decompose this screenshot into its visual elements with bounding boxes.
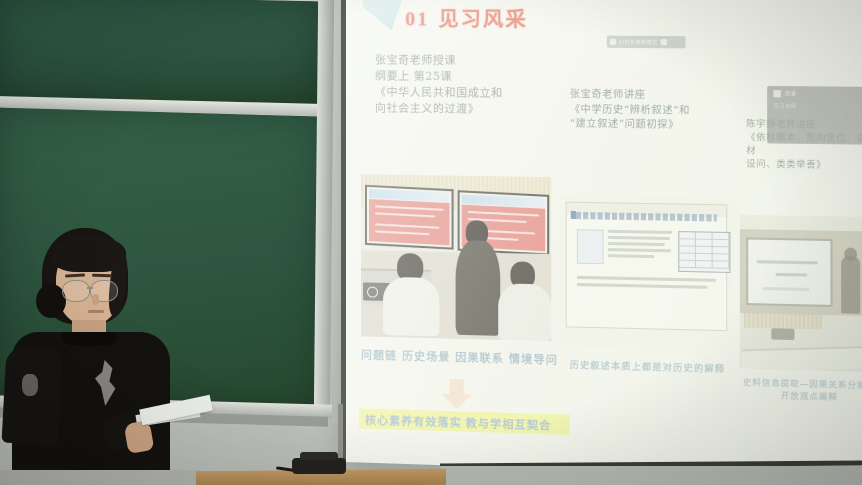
photo-1-teacher-body: [456, 240, 501, 336]
column-1-text: 张宝奇老师授课 纲要上 第25课 《中华人民共和国成立和 向社会主义的过渡》: [375, 52, 557, 118]
photo-3-radiator: [744, 313, 822, 329]
decorative-leaf-icon: [363, 0, 409, 30]
lower-wall-strip: [440, 466, 862, 485]
eyeglasses-lens-left: [62, 280, 90, 302]
classroom-presentation-screenshot: 01见习风采 幻灯片放映模式 目录 见习总结 张宝奇老师授课 纲要上: [0, 0, 862, 485]
side-panel-subtitle: 见习总结: [773, 102, 862, 110]
column-1-work-line-1: 《中华人民共和国成立和: [375, 84, 557, 102]
slideshow-toolbar-label: 幻灯片放映模式: [619, 38, 657, 45]
photo-1-equipment-dial: [367, 286, 378, 297]
projection-screen: 01见习风采 幻灯片放映模式 目录 见习总结 张宝奇老师授课 纲要上: [345, 0, 862, 480]
column-2-caption: 历史叙述本质上都是对历史的解释: [570, 358, 725, 375]
column-2-heading: 张宝奇老师讲座: [570, 88, 746, 105]
slide-title: 01见习风采: [405, 2, 528, 32]
presenter-nose: [92, 294, 99, 305]
photo-2-slide-frame: [566, 202, 728, 332]
column-3-caption: 史料信息提取—因果关系分析—开放观点阐释: [742, 377, 862, 405]
student-presenter: [0, 228, 200, 485]
podium-front-panel: [0, 470, 200, 485]
tshirt-secondary-print: [22, 374, 38, 396]
photo-1-screen-left: [365, 185, 454, 250]
grid-icon[interactable]: [610, 39, 616, 45]
photo-2-data-table: [678, 231, 730, 273]
side-panel-header: 目录: [773, 90, 862, 98]
projector-control-device-top: [300, 452, 338, 460]
column-1-work-line-2: 向社会主义的过渡》: [375, 100, 557, 118]
photo-1-student-body-1: [383, 277, 439, 337]
list-icon[interactable]: [773, 90, 780, 97]
lecture-slide-screenshot: [559, 195, 733, 349]
photo-2-header-text: [576, 212, 717, 222]
column-2-work-line-2: “建立叙述”问题初探》: [570, 118, 746, 135]
slide-title-text: 见习风采: [438, 8, 527, 31]
photo-2-paragraph: [608, 230, 672, 262]
presenter-sleeve: [2, 347, 63, 446]
presenter-eyebrow-right: [92, 274, 112, 278]
column-1-heading: 张宝奇老师授课: [375, 52, 557, 70]
photo-3-desk: [742, 346, 862, 372]
chalkboard-upper: [0, 0, 318, 105]
side-panel-title: 目录: [785, 90, 796, 97]
presentation-slide: 01见习风采 幻灯片放映模式 目录 见习总结 张宝奇老师授课 纲要上: [345, 0, 862, 480]
cursor-icon[interactable]: [661, 39, 667, 45]
photo-3-projection-screen: [746, 237, 832, 307]
presenter-mouth: [88, 310, 104, 313]
slide-title-number: 01: [405, 8, 429, 30]
column-3-work-line-1: 《依标据本、指向定位、选材: [746, 132, 862, 160]
eyeglasses-bridge: [87, 287, 93, 289]
photo-2-side-card: [577, 229, 604, 264]
classroom-teaching-photo: [361, 174, 551, 341]
slideshow-toolbar[interactable]: 幻灯片放映模式: [607, 36, 686, 49]
photo-1-student-body-2: [498, 283, 551, 341]
photo-1-screen-left-body: [369, 199, 450, 245]
column-3-text: 陈宇静老师讲座 《依标据本、指向定位、选材 设问、类类举善》: [746, 119, 862, 174]
column-1-subheading: 纲要上 第25课: [375, 68, 557, 86]
projector-control-device: [292, 458, 346, 474]
presenter-collar: [62, 332, 116, 346]
photo-3-speaker-body: [841, 256, 860, 314]
photo-2-footer-text: [577, 276, 716, 293]
column-1-caption: 问题链 历史场景 因果联系 情境导问: [361, 346, 558, 367]
lecture-room-photo: [740, 215, 862, 372]
column-2-text: 张宝奇老师讲座 《中学历史“辨析叙述”和 “建立叙述”问题初探》: [570, 88, 746, 134]
column-3-work-line-2: 设问、类类举善》: [746, 159, 862, 174]
photo-3-desk-object: [771, 328, 794, 340]
